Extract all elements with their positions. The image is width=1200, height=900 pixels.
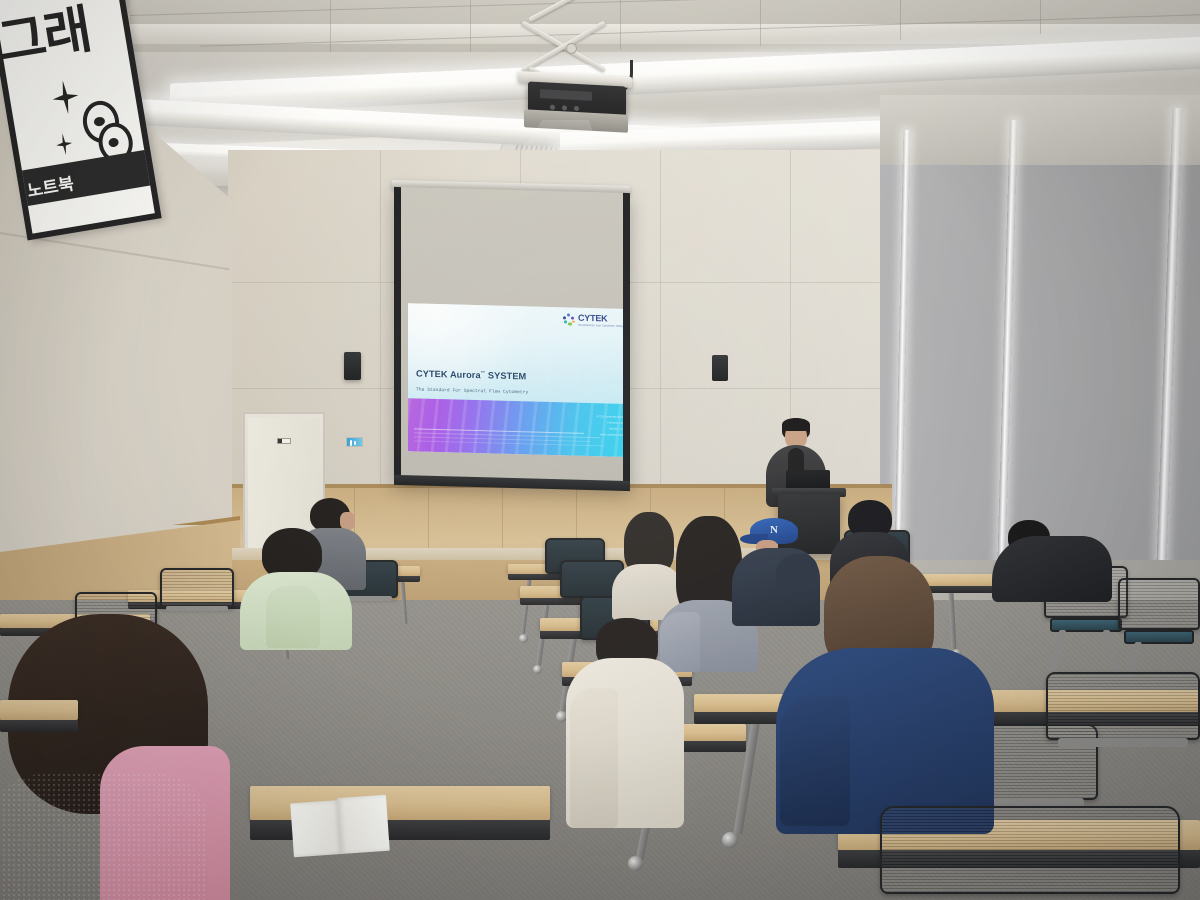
cytek-logo-dots [563, 313, 576, 326]
wall-speaker-left [344, 352, 361, 380]
slide-address-line: 47215 Lakeview Blvd [597, 414, 623, 419]
fleece-vest [0, 774, 208, 900]
ceiling-panel-line [900, 0, 901, 40]
notebook-left-page [290, 800, 343, 857]
chair[interactable] [160, 568, 234, 620]
ceiling-panel-line [1040, 0, 1041, 34]
attendee-back-right-black [992, 508, 1112, 600]
desk [0, 700, 78, 720]
wall-seam [660, 150, 661, 488]
slide-gradient-rays [408, 398, 630, 457]
desk-caster [519, 634, 528, 643]
desk-caster [628, 856, 643, 871]
ceiling-panel-line [470, 0, 471, 52]
screen-border-left [394, 187, 401, 483]
slide-address-line: Fremont, CA [607, 420, 623, 424]
slide-address-line: 94538 U.S. [609, 427, 623, 431]
open-notebook [290, 797, 390, 858]
ceiling-panel-line [330, 0, 331, 52]
right-wall-upper [880, 95, 1200, 165]
notebook-right-page [337, 795, 390, 854]
slide-title-suffix: SYSTEM [485, 370, 526, 381]
cytek-logo: CYTEK Revolutionize Your Cytometry Today [563, 313, 623, 328]
attendee-right-navy [776, 556, 994, 826]
wall-speaker-right [712, 355, 728, 381]
screen-border-right [623, 193, 630, 489]
chair[interactable] [880, 806, 1180, 900]
projection-screen: CYTEK Revolutionize Your Cytometry Today… [394, 187, 630, 489]
attendee-foreground-vest [0, 614, 318, 900]
slide-address-line: www.cytekbio.com [600, 432, 623, 437]
desk-edge [0, 720, 78, 732]
screen-surface: CYTEK Revolutionize Your Cytometry Today… [401, 187, 623, 489]
desk-caster [722, 832, 738, 848]
chair[interactable] [1118, 578, 1200, 682]
slide-title-main: CYTEK Aurora [416, 369, 481, 381]
lecture-hall-photo: 그래 노트북 [0, 0, 1200, 900]
presenter-hair-top [782, 418, 810, 431]
wall-seam [380, 150, 381, 488]
attendee-white-puffer [566, 618, 684, 818]
desk-caster [533, 665, 542, 674]
cap-logo: N [770, 525, 784, 538]
ceiling-panel-line [760, 0, 761, 46]
presentation-slide: CYTEK Revolutionize Your Cytometry Today… [408, 303, 630, 457]
banner-text-primary: 그래 [0, 4, 94, 70]
door-sign-icon [278, 439, 282, 443]
emergency-exit-sign [346, 437, 363, 447]
chair[interactable] [1046, 672, 1200, 776]
cytek-logo-text: CYTEK [578, 314, 623, 324]
